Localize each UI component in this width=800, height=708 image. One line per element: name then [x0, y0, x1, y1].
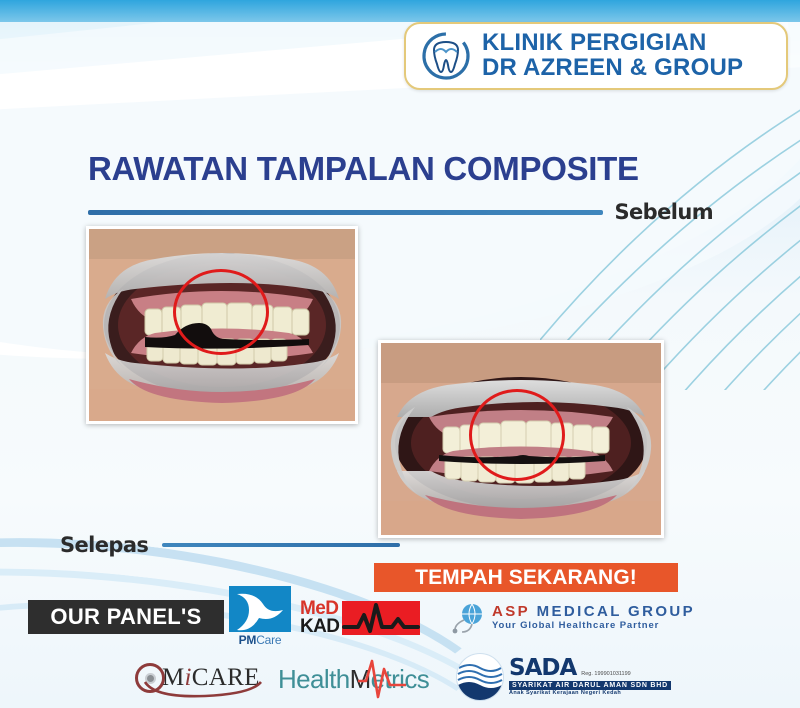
after-label: Selepas [60, 533, 148, 557]
top-blue-strip [0, 0, 800, 22]
asp-title: ASP MEDICAL GROUP [492, 604, 695, 621]
book-now-button[interactable]: TEMPAH SEKARANG! [374, 563, 678, 592]
our-panels-label: OUR PANEL'S [50, 604, 201, 630]
our-panels-tag: OUR PANEL'S [28, 600, 224, 634]
micare-logo: MiCARE [135, 658, 275, 698]
healthmetrics-label: HealthMetrics [278, 664, 429, 695]
book-now-label: TEMPAH SEKARANG! [415, 566, 637, 590]
healthmetrics-logo: HealthMetrics [278, 660, 458, 698]
micare-underline-swoosh [141, 680, 271, 700]
pmcare-logo: PMCare [222, 586, 298, 648]
before-highlight-circle [173, 269, 269, 355]
clinic-logo-badge: KLINIK PERGIGIAN DR AZREEN & GROUP [404, 22, 788, 90]
before-label: Sebelum [615, 200, 713, 224]
poster-canvas: KLINIK PERGIGIAN DR AZREEN & GROUP RAWAT… [0, 0, 800, 708]
after-treatment-photo [378, 340, 664, 538]
globe-stethoscope-icon [452, 602, 486, 634]
sada-full-name: SYARIKAT AIR DARUL AMAN SDN BHD [509, 681, 671, 690]
after-label-row: Selepas [60, 533, 400, 557]
sada-logo: SADA Reg. 199901031199 SYARIKAT AIR DARU… [456, 652, 686, 702]
before-treatment-photo [86, 226, 358, 424]
asp-tagline: Your Global Healthcare Partner [492, 621, 695, 632]
medkad-wordmark: MeD KAD [300, 600, 339, 637]
healthmetrics-ecg-icon [356, 651, 408, 703]
divider-rule-after [162, 543, 400, 547]
pmcare-label: PMCare [239, 633, 282, 647]
pmcare-mark-icon [229, 586, 291, 632]
asp-medical-group-logo: ASP MEDICAL GROUP Your Global Healthcare… [452, 598, 684, 638]
after-highlight-circle [469, 389, 565, 481]
page-title: RAWATAN TAMPALAN COMPOSITE [88, 150, 748, 188]
clinic-name-line1: KLINIK PERGIGIAN [482, 31, 743, 56]
clinic-name-line2: DR AZREEN & GROUP [482, 56, 743, 81]
sada-name: SADA [509, 657, 576, 680]
tooth-in-circle-icon [420, 30, 472, 82]
medkad-logo: MeD KAD [300, 597, 448, 639]
sada-registration: Reg. 199901031199 [581, 672, 630, 678]
sada-wordmark: SADA Reg. 199901031199 SYARIKAT AIR DARU… [509, 657, 671, 697]
medkad-line2: KAD [300, 618, 339, 636]
sada-subtitle: Anak Syarikat Kerajaan Negeri Kedah [509, 691, 671, 697]
clinic-name: KLINIK PERGIGIAN DR AZREEN & GROUP [482, 31, 743, 80]
sada-water-icon [456, 653, 504, 701]
before-label-row: Sebelum [88, 200, 713, 224]
asp-wordmark: ASP MEDICAL GROUP Your Global Healthcare… [492, 604, 695, 631]
medkad-ecg-icon [342, 601, 420, 635]
divider-rule-before [88, 210, 603, 215]
